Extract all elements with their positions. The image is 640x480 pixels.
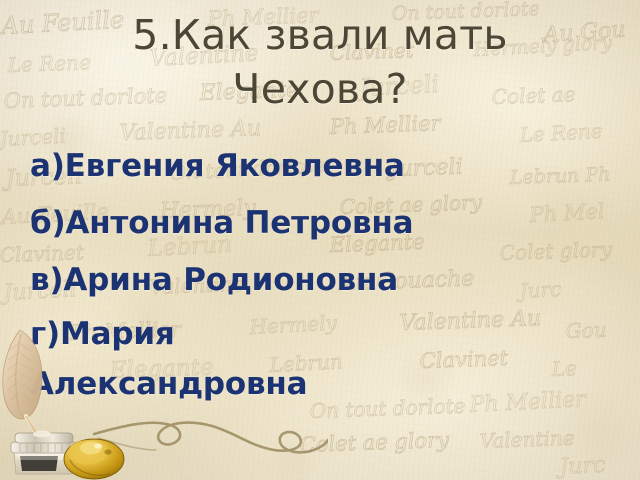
page-title: 5.Как звали мать Чехова? [36, 8, 604, 116]
answer-option-v[interactable]: в)Арина Родионовна [30, 252, 610, 309]
answer-option-g[interactable]: г)Мария Александровна [30, 309, 610, 409]
answer-option-b[interactable]: б)Антонина Петровна [30, 195, 610, 252]
answer-option-a[interactable]: а)Евгения Яковлевна [30, 138, 610, 195]
answer-options-list: а)Евгения Яковлевна б)Антонина Петровна … [30, 138, 610, 409]
quiz-slide: Au Feuille Ph Mellier On tout dorlote Au… [0, 0, 640, 480]
